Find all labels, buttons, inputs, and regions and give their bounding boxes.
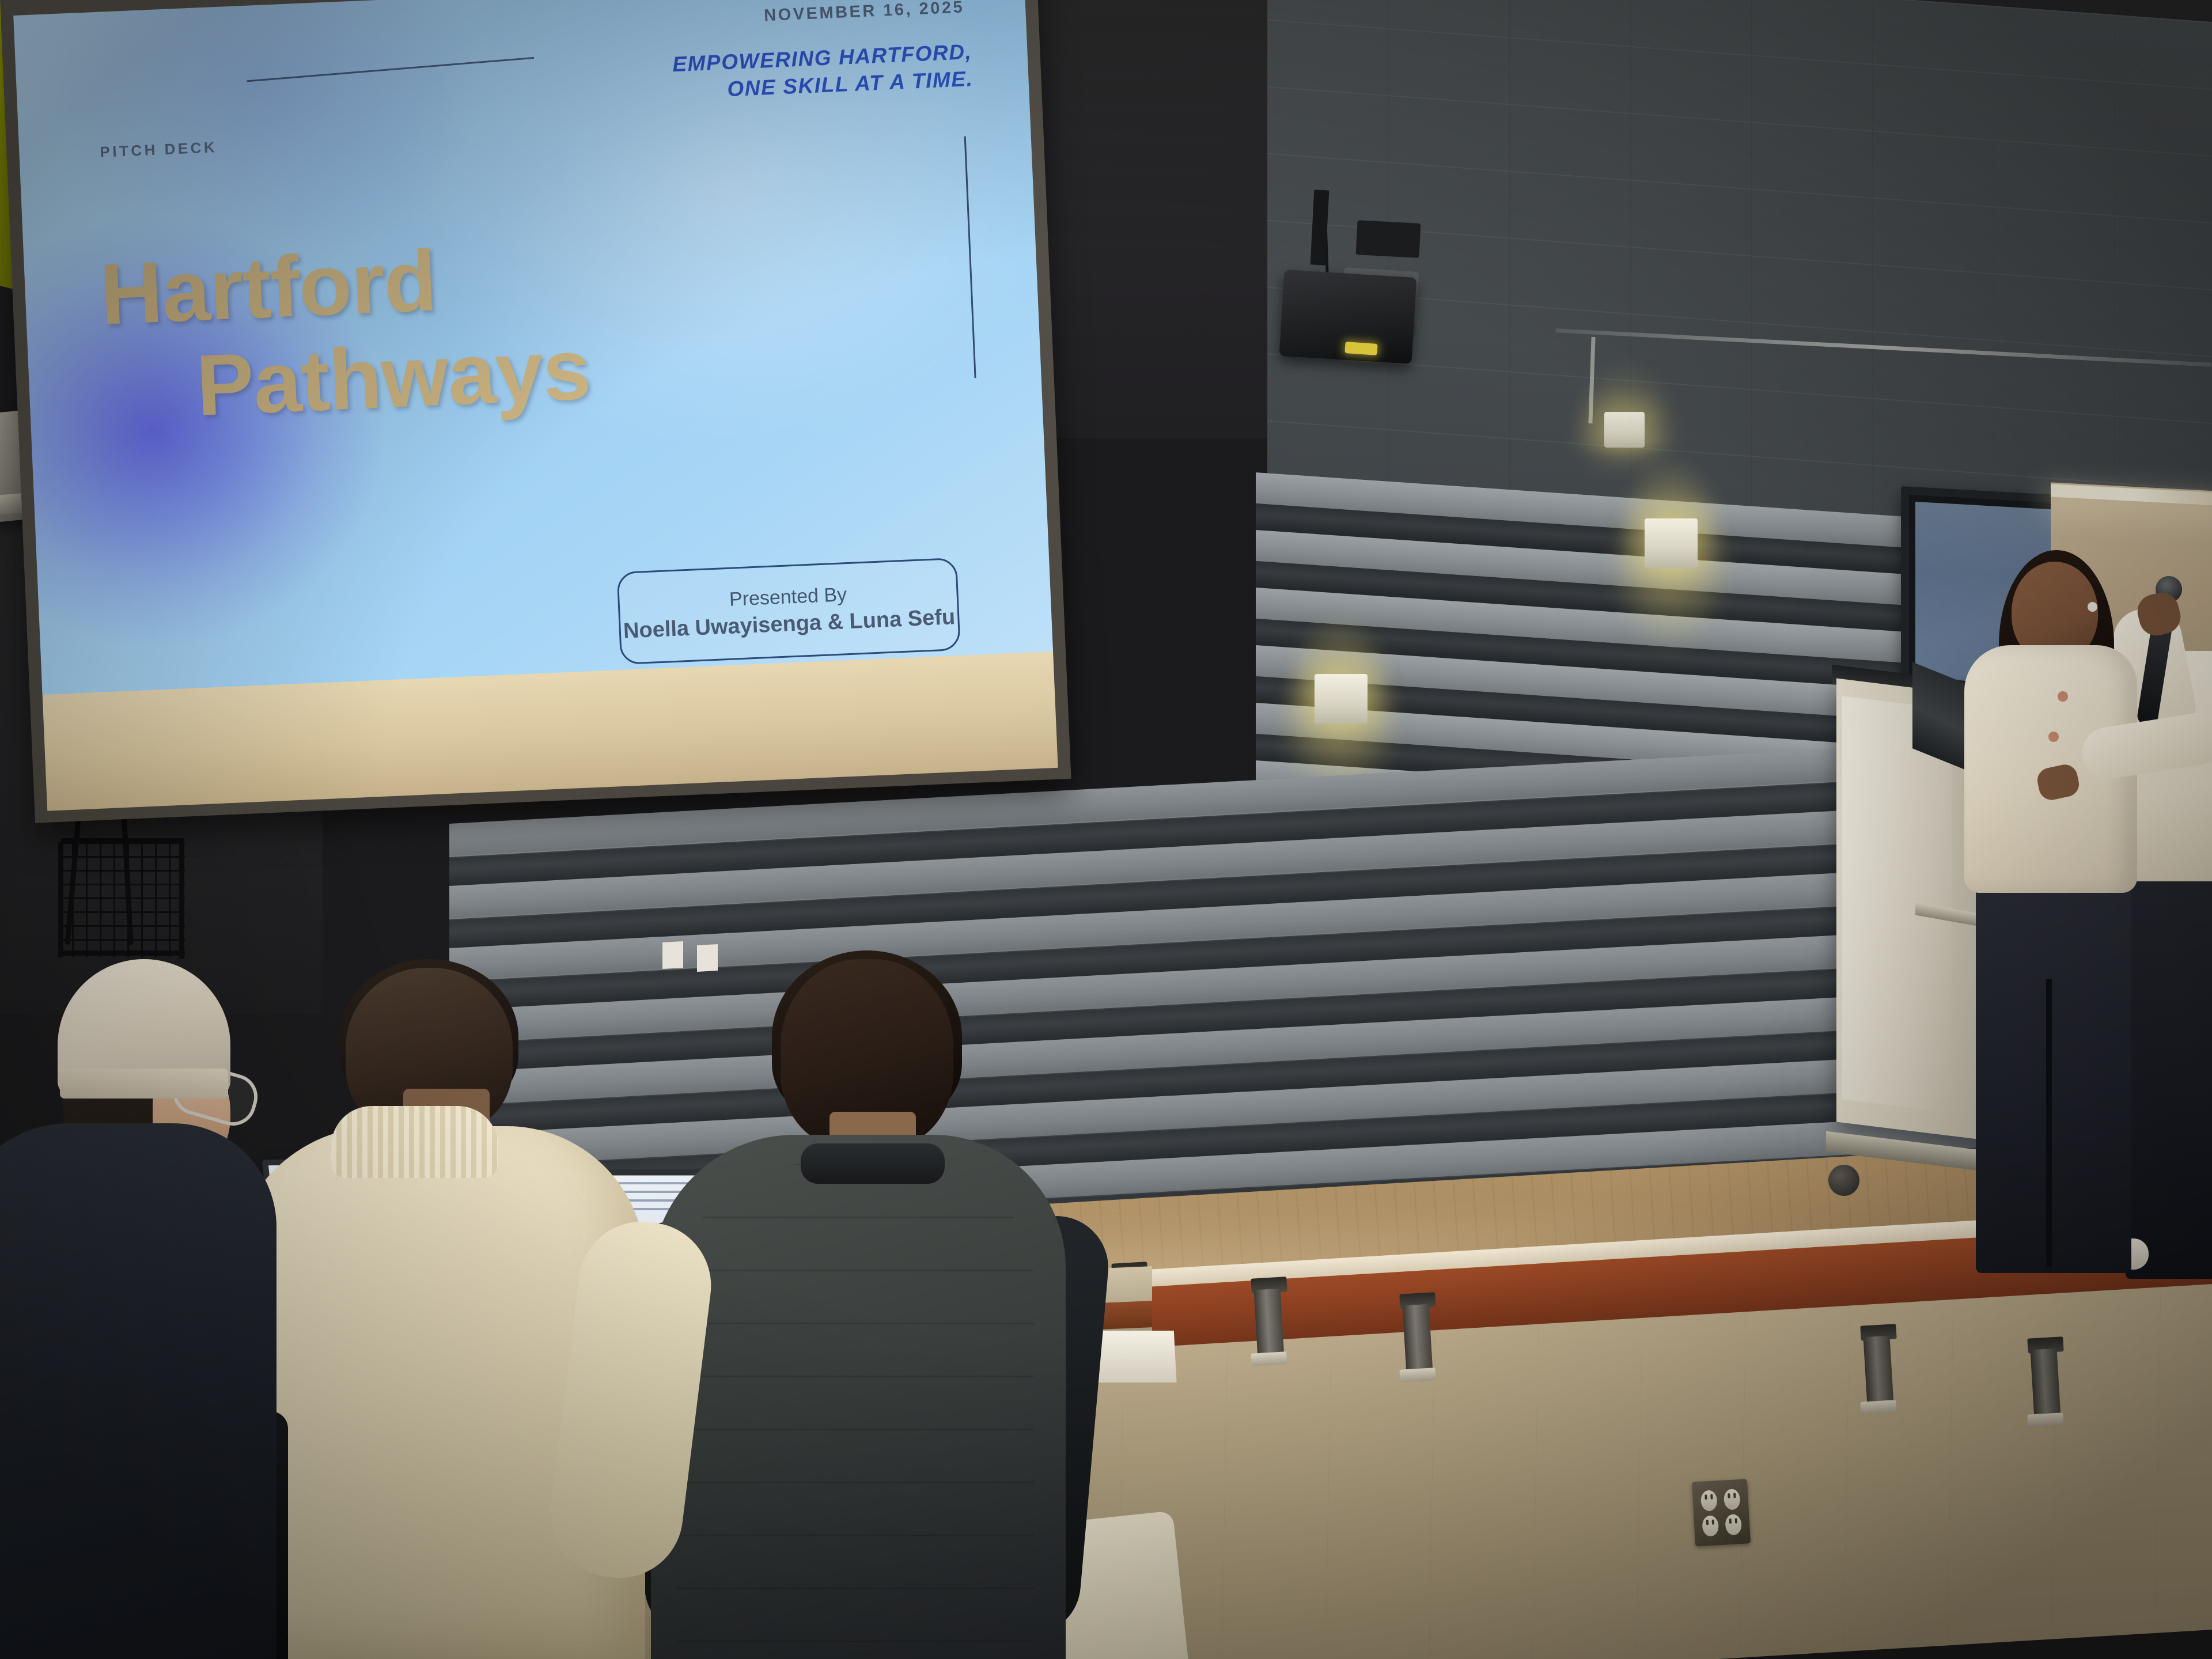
auditorium-scene: PITCH DECK NOVEMBER 16, 2025 EMPOWERING … xyxy=(0,0,2212,1659)
wall-sconce-1 xyxy=(1645,518,1698,568)
projection-screen: PITCH DECK NOVEMBER 16, 2025 EMPOWERING … xyxy=(0,0,1071,823)
slide-header-rule xyxy=(247,57,534,82)
power-outlet-icon[interactable] xyxy=(1692,1479,1751,1546)
stage-bracket-foot xyxy=(2027,1412,2063,1427)
audience-member-1 xyxy=(0,1123,276,1659)
stage-bracket xyxy=(1863,1336,1893,1407)
presenter-at-lectern xyxy=(1976,853,2131,1273)
slide-date: NOVEMBER 16, 2025 xyxy=(764,0,965,25)
projector-ceiling-plate xyxy=(1356,220,1421,258)
stage-bracket xyxy=(2030,1349,2061,1419)
stage-bracket-foot xyxy=(1860,1400,1896,1415)
slide-title-line-2: Pathways xyxy=(195,325,592,429)
wall-switch-plate[interactable] xyxy=(662,941,683,969)
slide-title-line-1: Hartford xyxy=(99,237,438,338)
presented-by-label: Presented By xyxy=(729,584,847,611)
stage-bracket-foot xyxy=(1251,1351,1287,1366)
beanie-cuff xyxy=(60,1069,228,1099)
slide-vertical-rule xyxy=(964,137,976,378)
slide-eyebrow-label: PITCH DECK xyxy=(100,138,218,161)
pitch-deck-title-slide: PITCH DECK NOVEMBER 16, 2025 EMPOWERING … xyxy=(13,0,1053,695)
wall-sconce-3 xyxy=(1604,412,1645,448)
wall-switch-plate-2[interactable] xyxy=(697,944,718,972)
stage-bracket xyxy=(1253,1289,1284,1359)
turtleneck-collar xyxy=(331,1106,498,1178)
projector-status-led xyxy=(1344,342,1377,355)
quilted-vest-texture xyxy=(677,1164,1034,1659)
presenter-a-leg-seam xyxy=(2046,979,2052,1267)
presenter-with-microphone xyxy=(2126,841,2212,1279)
stage-bracket-foot xyxy=(1399,1368,1435,1382)
presenter-names: Noella Uwayisenga & Luna Sefu xyxy=(623,605,956,644)
lectern-caster xyxy=(1828,1165,1859,1196)
audience-member-3-collar xyxy=(801,1143,945,1184)
slide-tagline: EMPOWERING HARTFORD, ONE SKILL AT A TIME… xyxy=(672,38,974,105)
cardigan-button-icon xyxy=(2048,732,2059,742)
presenter-a-earring-icon xyxy=(2088,602,2097,612)
cardigan-button-icon xyxy=(2058,691,2068,702)
presented-by-box: Presented By Noella Uwayisenga & Luna Se… xyxy=(616,558,960,665)
lectern-highlight xyxy=(1842,696,1952,1112)
wall-sconce-2 xyxy=(1315,674,1368,724)
stage-bracket xyxy=(1402,1304,1433,1375)
